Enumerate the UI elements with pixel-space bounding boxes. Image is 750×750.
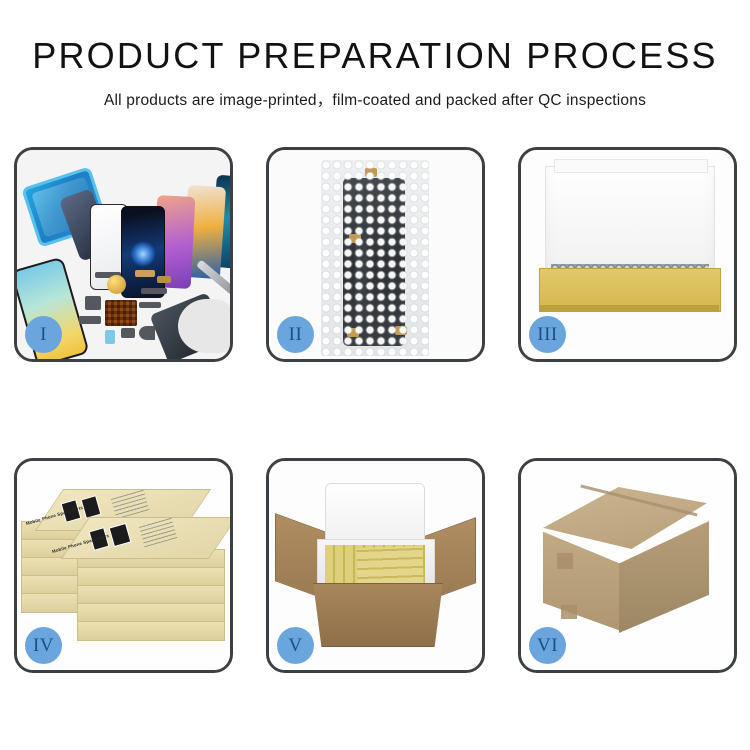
part-bracket-2 <box>79 316 101 324</box>
part-gold-disc <box>107 275 126 294</box>
hand-blur <box>178 299 230 353</box>
process-step-grid: I II III <box>14 147 737 673</box>
step-badge-6: VI <box>529 627 566 664</box>
page-header: PRODUCT PREPARATION PROCESS All products… <box>0 0 750 110</box>
foam-box-lid <box>325 483 425 547</box>
kraft-box-edge <box>539 305 719 311</box>
part-bracket-1 <box>85 296 101 310</box>
stack-box-r3 <box>77 585 225 605</box>
part-chip-grid <box>105 300 137 326</box>
process-step-panel-4[interactable]: Mobile Phone Spare Parts Mobile Phone Sp… <box>14 458 233 673</box>
process-step-panel-1[interactable]: I <box>14 147 233 362</box>
step-badge-3: III <box>529 316 566 353</box>
process-step-panel-5[interactable]: V <box>266 458 485 673</box>
carton-body <box>309 583 447 647</box>
carton-tape-lower <box>561 605 577 619</box>
bubble-texture <box>321 160 429 356</box>
stack-box-r5 <box>77 621 225 641</box>
part-strip-2 <box>135 270 155 277</box>
stack-box-r2 <box>77 567 225 587</box>
step-badge-2: II <box>277 316 314 353</box>
process-step-panel-3[interactable]: III <box>518 147 737 362</box>
part-flex-cable <box>141 288 167 294</box>
part-bracket-3 <box>121 328 135 338</box>
part-speaker <box>139 326 155 340</box>
step-badge-1: I <box>25 316 62 353</box>
part-small-screen <box>105 330 115 344</box>
part-strip-3 <box>157 276 171 283</box>
carton-tape-upper <box>557 553 573 569</box>
step-badge-4: IV <box>25 627 62 664</box>
bubble-bag <box>321 160 429 356</box>
stack-box-r4 <box>77 603 225 623</box>
step-badge-5: V <box>277 627 314 664</box>
phone-blue-front <box>121 206 165 298</box>
yellow-boxes-row-2 <box>356 546 423 586</box>
page-title: PRODUCT PREPARATION PROCESS <box>0 38 750 74</box>
part-strip-4 <box>139 302 161 308</box>
process-step-panel-6[interactable]: VI <box>518 458 737 673</box>
process-step-panel-2[interactable]: II <box>266 147 485 362</box>
page-subtitle: All products are image-printed，film-coat… <box>0 88 750 110</box>
